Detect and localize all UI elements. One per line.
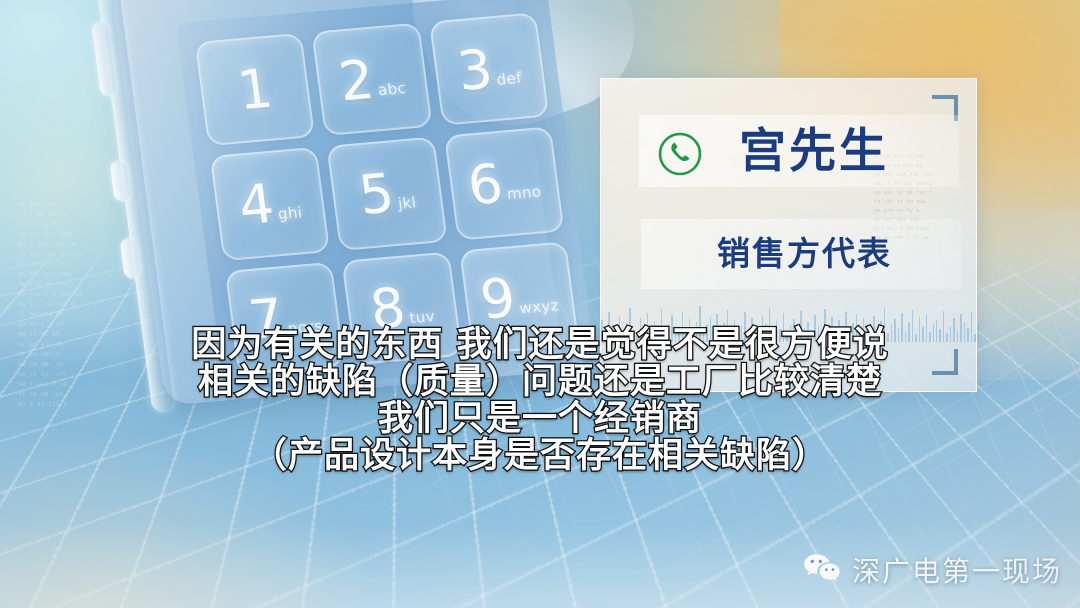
subtitle-line: 我们只是一个经销商 — [0, 402, 1080, 437]
dialpad-key-number: 9 — [477, 271, 518, 328]
dialpad-key-5: 5jkl — [327, 137, 448, 251]
dialpad-key-letters: abc — [377, 79, 407, 99]
subtitle-block: 因为有关的东西 我们还是觉得不是很方便说相关的缺陷（质量）问题还是工厂比较清楚我… — [0, 328, 1080, 476]
subtitle-line: （产品设计本身是否存在相关缺陷） — [0, 439, 1080, 474]
subtitle-line: 相关的缺陷（质量）问题还是工厂比较清楚 — [0, 365, 1080, 400]
dialpad-key-number: 5 — [356, 166, 397, 223]
broadcast-frame: 01 0x4f ab in t ma in () re t urn 0; da … — [0, 0, 1080, 608]
dialpad-keys: 12abc3def4ghi5jkl6mno7pqrs8tuv9wxyz — [195, 12, 580, 375]
dialpad-key-letters: mno — [506, 182, 543, 203]
wechat-logo-icon — [803, 552, 841, 588]
phone-handset-circle-icon — [657, 131, 703, 177]
dialpad-key-6: 6mno — [444, 127, 565, 241]
channel-watermark: 深广电第一现场 — [803, 550, 1062, 590]
dialpad-key-number: 1 — [234, 61, 275, 118]
dialpad-key-letters: def — [495, 68, 523, 88]
dialpad-key-letters: wxyz — [518, 296, 560, 317]
watermark-label: 深广电第一现场 — [852, 550, 1062, 590]
dialpad-key-1: 1 — [195, 33, 316, 147]
dialpad-key-4: 4ghi — [210, 147, 331, 261]
dialpad-key-3: 3def — [429, 12, 550, 126]
dialpad-key-number: 4 — [236, 177, 277, 234]
dialpad-key-2: 2abc — [312, 23, 433, 137]
subtitle-line: 因为有关的东西 我们还是觉得不是很方便说 — [0, 328, 1080, 363]
caller-role: 销售方代表 — [717, 225, 892, 283]
caller-name: 宫先生 — [739, 119, 889, 185]
dialpad-key-number: 2 — [336, 52, 377, 109]
dialpad-key-letters: ghi — [277, 203, 304, 223]
dialpad-key-number: 6 — [465, 157, 506, 214]
dialpad-key-number: 3 — [454, 42, 495, 99]
dialpad-key-letters: jkl — [397, 193, 418, 212]
